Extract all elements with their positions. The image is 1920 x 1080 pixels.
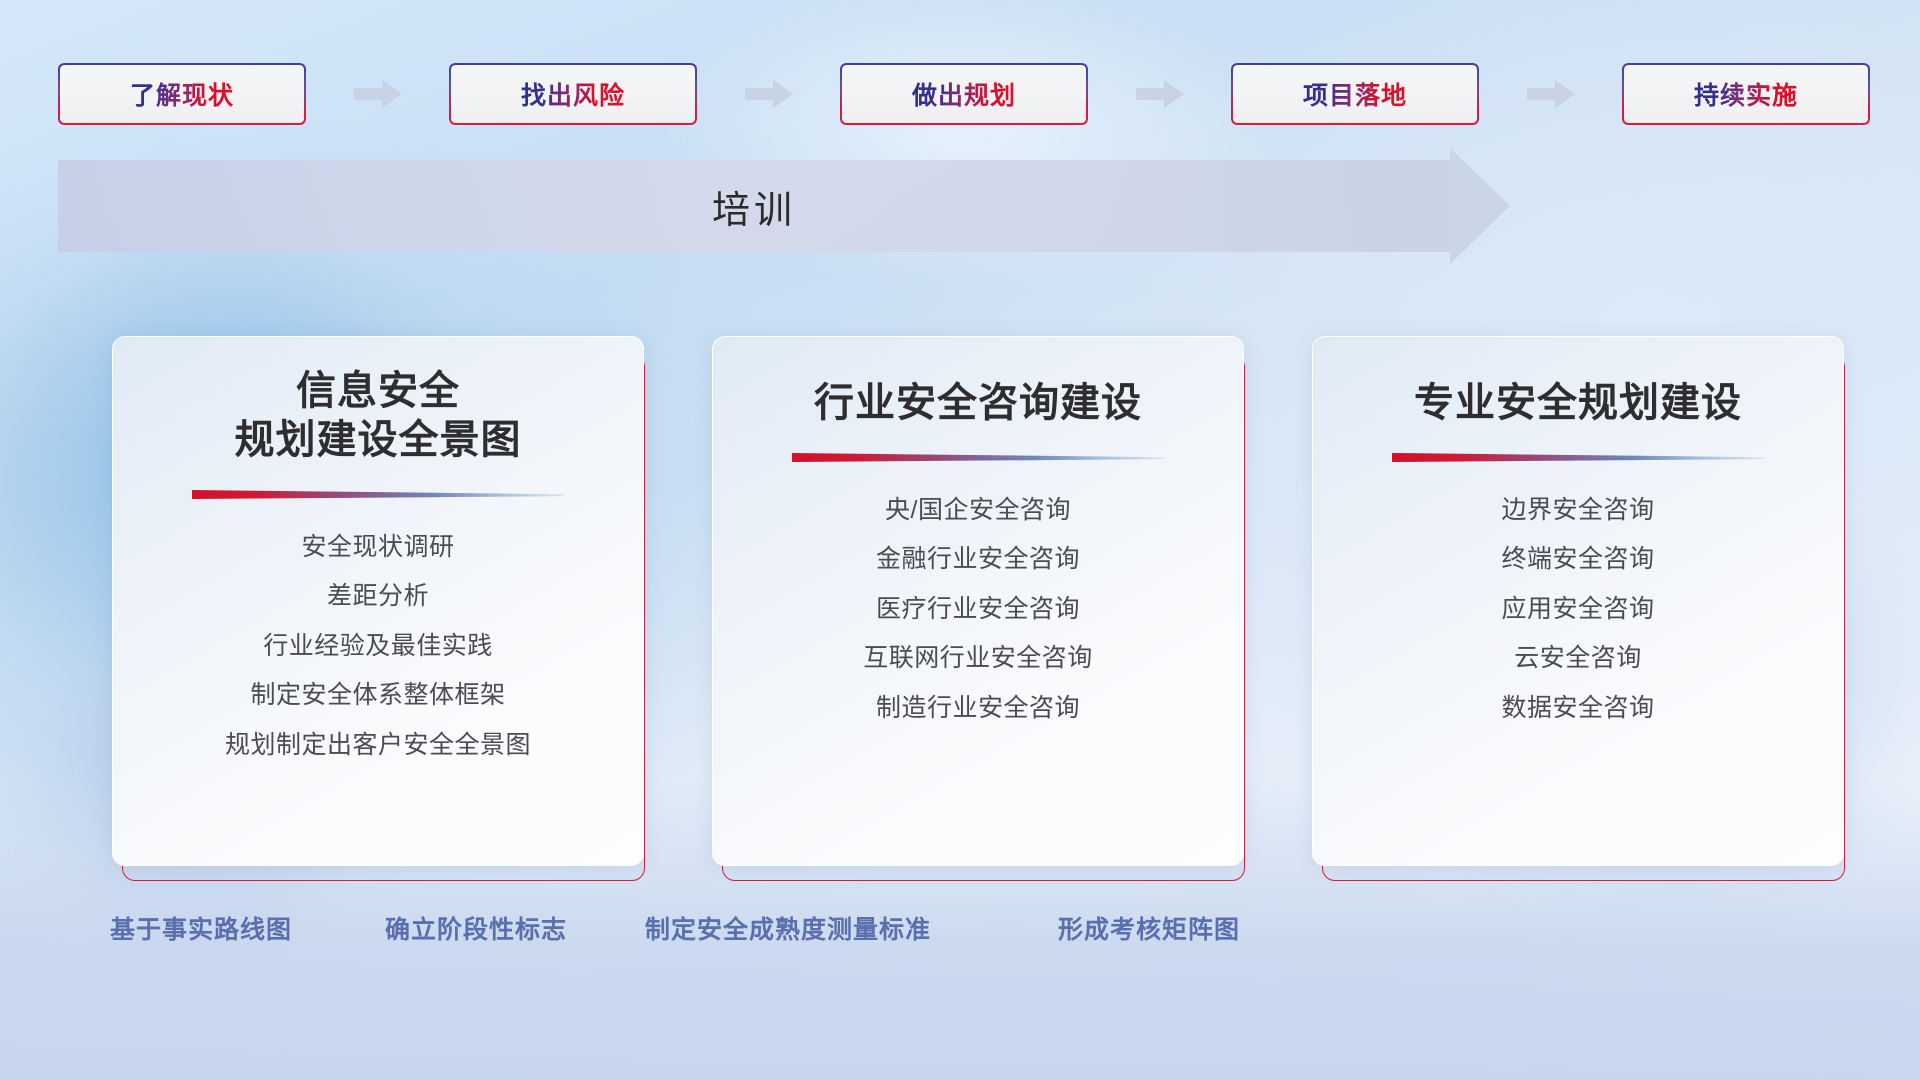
service-card-3[interactable]: 专业安全规划建设边界安全咨询终端安全咨询应用安全咨询云安全咨询数据安全咨询: [1312, 336, 1852, 881]
card-divider-icon: [1392, 450, 1764, 464]
list-item: 互联网行业安全咨询: [863, 640, 1093, 678]
step-box-4[interactable]: 项目落地: [1231, 63, 1479, 125]
list-item: 制定安全体系整体框架: [250, 677, 505, 715]
arrow-right-icon: [1134, 77, 1186, 111]
arrow-right-icon: [743, 77, 795, 111]
list-item: 规划制定出客户安全全景图: [225, 727, 531, 765]
card-title: 行业安全咨询建设: [713, 379, 1243, 428]
step-gap: [1088, 77, 1231, 111]
list-item: 数据安全咨询: [1501, 690, 1654, 728]
card-item-list: 边界安全咨询终端安全咨询应用安全咨询云安全咨询数据安全咨询: [1313, 492, 1843, 728]
list-item: 金融行业安全咨询: [876, 541, 1080, 579]
step-box-3[interactable]: 做出规划: [840, 63, 1088, 125]
card-title: 信息安全规划建设全景图: [113, 367, 643, 465]
card-title-line: 行业安全咨询建设: [713, 379, 1243, 428]
list-item: 安全现状调研: [301, 529, 454, 567]
list-item: 央/国企安全咨询: [885, 492, 1071, 530]
list-item: 制造行业安全咨询: [876, 690, 1080, 728]
list-item: 终端安全咨询: [1501, 541, 1654, 579]
service-card-2[interactable]: 行业安全咨询建设央/国企安全咨询金融行业安全咨询医疗行业安全咨询互联网行业安全咨…: [712, 336, 1252, 881]
card-title-line: 专业安全规划建设: [1313, 379, 1843, 428]
banner-arrow-tip-icon: [1450, 148, 1510, 264]
step-box-1[interactable]: 了解现状: [58, 63, 306, 125]
footnote-label-4: 形成考核矩阵图: [1058, 910, 1240, 946]
step-label: 了解现状: [130, 76, 234, 112]
step-label: 项目落地: [1303, 76, 1407, 112]
training-banner-arrow: 培训: [58, 160, 1510, 252]
step-gap: [697, 77, 840, 111]
process-step-flow: 了解现状找出风险做出规划项目落地持续实施: [58, 63, 1870, 125]
list-item: 行业经验及最佳实践: [263, 628, 493, 666]
footnote-label-1: 基于事实路线图: [110, 910, 292, 946]
card-panel: 专业安全规划建设边界安全咨询终端安全咨询应用安全咨询云安全咨询数据安全咨询: [1312, 336, 1844, 866]
service-card-group: 信息安全规划建设全景图安全现状调研差距分析行业经验及最佳实践制定安全体系整体框架…: [112, 336, 1852, 881]
card-title-line: 规划建设全景图: [113, 416, 643, 465]
banner-title: 培训: [58, 160, 1450, 252]
card-title-line: 信息安全: [113, 367, 643, 416]
list-item: 云安全咨询: [1514, 640, 1642, 678]
list-item: 医疗行业安全咨询: [876, 591, 1080, 629]
service-card-1[interactable]: 信息安全规划建设全景图安全现状调研差距分析行业经验及最佳实践制定安全体系整体框架…: [112, 336, 652, 881]
card-item-list: 安全现状调研差距分析行业经验及最佳实践制定安全体系整体框架规划制定出客户安全全景…: [113, 529, 643, 765]
card-title: 专业安全规划建设: [1313, 379, 1843, 428]
step-box-5[interactable]: 持续实施: [1622, 63, 1870, 125]
step-label: 持续实施: [1694, 76, 1798, 112]
step-box-2[interactable]: 找出风险: [449, 63, 697, 125]
step-gap: [1479, 77, 1622, 111]
list-item: 应用安全咨询: [1501, 591, 1654, 629]
footnote-label-3: 制定安全成熟度测量标准: [645, 910, 931, 946]
card-divider-icon: [792, 450, 1164, 464]
arrow-right-icon: [1525, 77, 1577, 111]
step-label: 做出规划: [912, 76, 1016, 112]
card-panel: 信息安全规划建设全景图安全现状调研差距分析行业经验及最佳实践制定安全体系整体框架…: [112, 336, 644, 866]
step-gap: [306, 77, 449, 111]
list-item: 差距分析: [327, 578, 429, 616]
list-item: 边界安全咨询: [1501, 492, 1654, 530]
card-item-list: 央/国企安全咨询金融行业安全咨询医疗行业安全咨询互联网行业安全咨询制造行业安全咨…: [713, 492, 1243, 728]
step-label: 找出风险: [521, 76, 625, 112]
card-divider-icon: [192, 487, 564, 501]
card-panel: 行业安全咨询建设央/国企安全咨询金融行业安全咨询医疗行业安全咨询互联网行业安全咨…: [712, 336, 1244, 866]
arrow-right-icon: [352, 77, 404, 111]
footnote-label-2: 确立阶段性标志: [385, 910, 567, 946]
footnote-group: 基于事实路线图确立阶段性标志制定安全成熟度测量标准形成考核矩阵图: [0, 910, 1920, 960]
